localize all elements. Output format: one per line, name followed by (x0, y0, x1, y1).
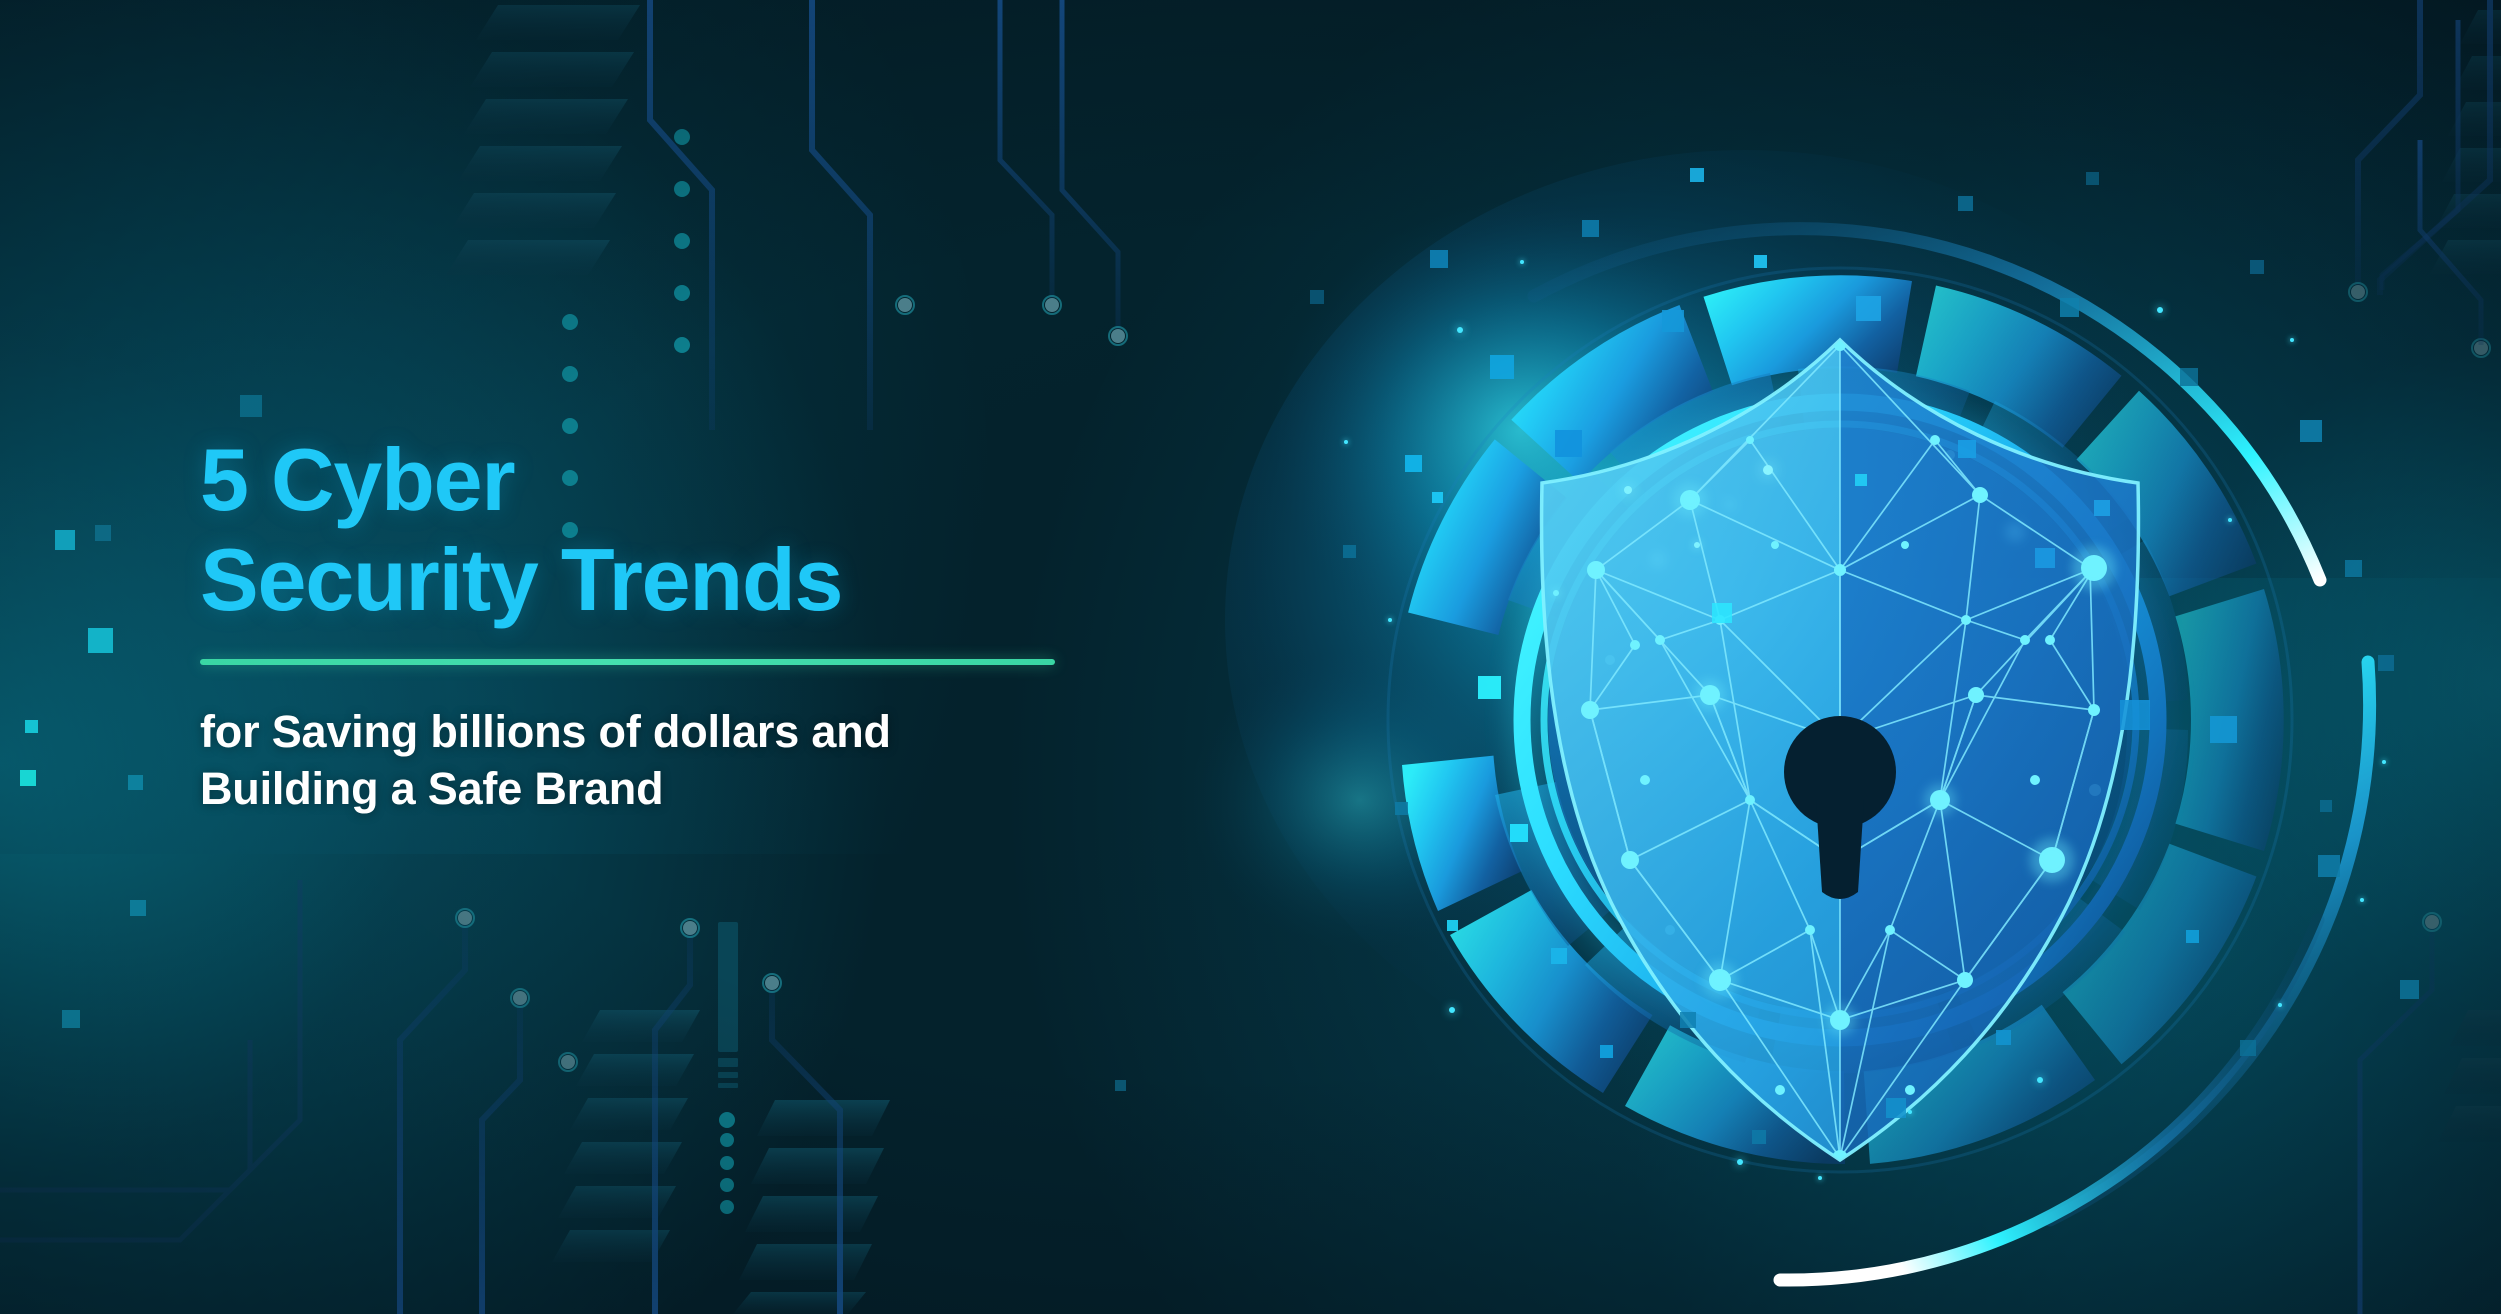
circuit-trace-nodes-top (896, 296, 1127, 345)
circuit-stripes-top-left (446, 5, 640, 275)
circuit-faint-traces (0, 880, 300, 1240)
circuit-stripes-bottom-left-2 (733, 1100, 890, 1314)
circuit-stripes-bottom-left (552, 1010, 700, 1262)
circuit-dot-column-bottom (719, 1112, 735, 1214)
title-divider (200, 659, 1055, 665)
page-subtitle: for Saving billions of dollars and Build… (200, 703, 1200, 818)
page-title: 5 Cyber Security Trends (200, 430, 1200, 631)
circuit-traces-top-left-b (1000, 0, 1118, 330)
cyber-security-banner: 5 Cyber Security Trends for Saving billi… (0, 0, 2501, 1314)
cyber-shield-graphic (1190, 100, 2490, 1280)
circuit-traces-top-left (650, 0, 905, 430)
circuit-connector-bar (718, 922, 738, 1088)
headline-block: 5 Cyber Security Trends for Saving billi… (200, 430, 1200, 818)
